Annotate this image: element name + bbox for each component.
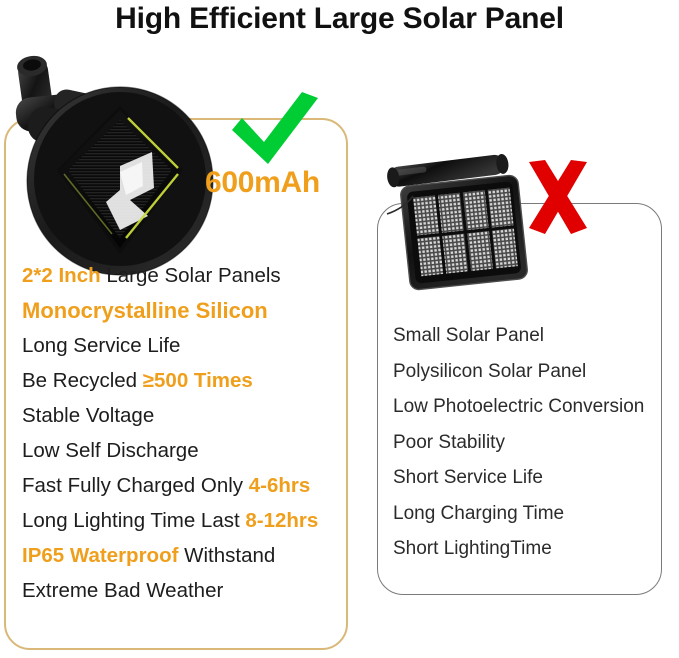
page-title: High Efficient Large Solar Panel: [0, 2, 679, 36]
list-item: Monocrystalline Silicon: [22, 293, 352, 328]
feature-text: Long Lighting Time Last: [22, 509, 245, 532]
list-item: Short LightingTime: [393, 531, 673, 567]
large-oval-solar-panel-image: [2, 48, 230, 278]
feature-highlight: IP65 Waterproof: [22, 544, 178, 567]
good-feature-list: 2*2 Inch Large Solar Panels Monocrystall…: [22, 258, 352, 608]
feature-text: Fast Fully Charged Only: [22, 474, 249, 497]
list-item: Be Recycled ≥500 Times: [22, 363, 352, 398]
green-check-icon: [228, 92, 320, 168]
list-item: Polysilicon Solar Panel: [393, 354, 673, 390]
capacity-badge: 600mAh: [205, 166, 320, 200]
feature-text: Large Solar Panels: [101, 264, 281, 287]
feature-text: Withstand: [178, 544, 275, 567]
list-item: Extreme Bad Weather: [22, 573, 352, 608]
list-item: IP65 Waterproof Withstand: [22, 538, 352, 573]
list-item: 2*2 Inch Large Solar Panels: [22, 258, 352, 293]
red-cross-icon: [525, 160, 591, 236]
feature-highlight: ≥500 Times: [143, 369, 253, 392]
list-item: Long Lighting Time Last 8-12hrs: [22, 503, 352, 538]
list-item: Short Service Life: [393, 460, 673, 496]
list-item: Long Charging Time: [393, 496, 673, 532]
list-item: Fast Fully Charged Only 4-6hrs: [22, 468, 352, 503]
bad-feature-list: Small Solar Panel Polysilicon Solar Pane…: [393, 318, 673, 567]
feature-highlight: 8-12hrs: [245, 509, 318, 532]
list-item: Stable Voltage: [22, 398, 352, 433]
list-item: Small Solar Panel: [393, 318, 673, 354]
feature-text: Be Recycled: [22, 369, 143, 392]
list-item: Long Service Life: [22, 328, 352, 363]
list-item: Poor Stability: [393, 425, 673, 461]
list-item: Low Self Discharge: [22, 433, 352, 468]
feature-highlight: 4-6hrs: [249, 474, 311, 497]
infographic-root: High Efficient Large Solar Panel: [0, 0, 679, 658]
list-item: Low Photoelectric Conversion: [393, 389, 673, 425]
feature-highlight: 2*2 Inch: [22, 264, 101, 287]
